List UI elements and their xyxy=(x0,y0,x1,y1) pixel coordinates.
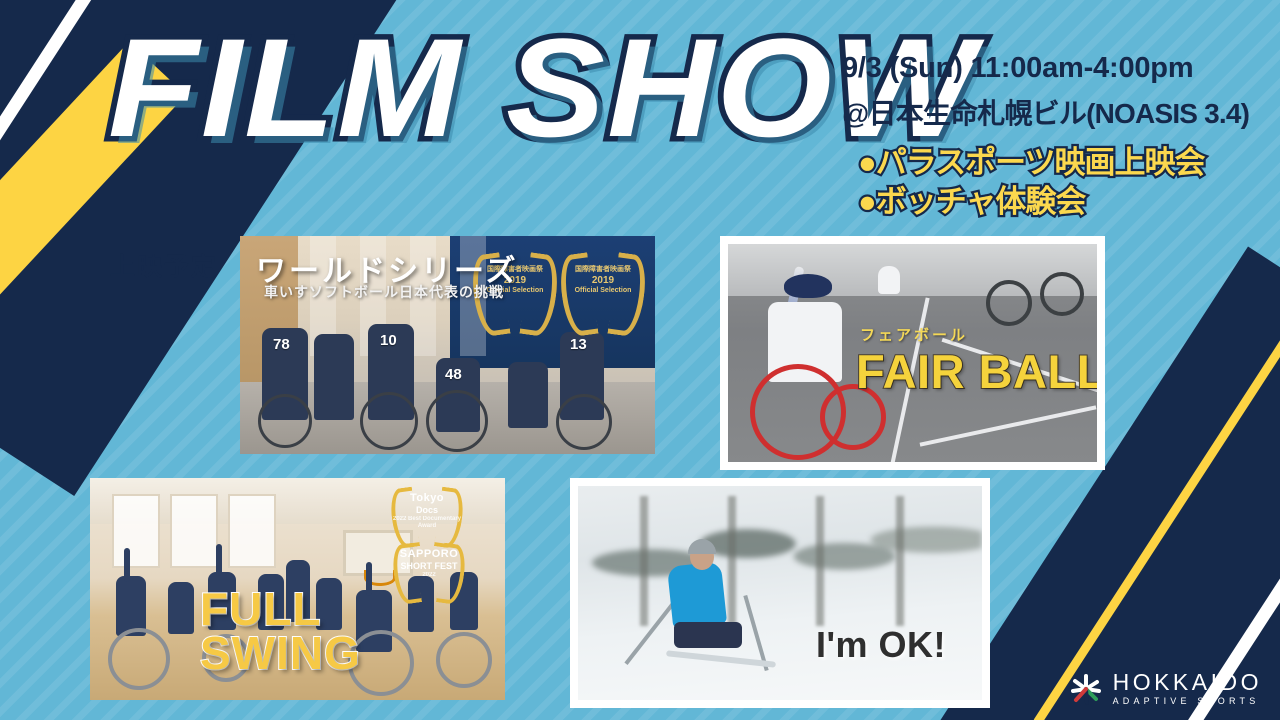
event-bullet-item: ●ボッチャ体験会 xyxy=(858,183,1242,222)
award-laurel-badge: 国際障害者映画祭 2019 Official Selection xyxy=(560,248,646,332)
brand-tagline: ADAPTIVE SPORTS xyxy=(1113,697,1262,706)
film-thumbnail-full-swing[interactable]: Tokyo Docs 2022 Best Documentary Award S… xyxy=(90,478,505,700)
event-bullet-list: ●パラスポーツ映画上映会 ●ボッチャ体験会 xyxy=(858,144,1242,222)
award-line-2: Docs xyxy=(390,505,464,516)
event-venue: @日本生命札幌ビル(NOASIS 3.4) xyxy=(842,92,1242,132)
award-line-2: SHORT FEST xyxy=(392,561,466,572)
brand-name: HOKKAIDO xyxy=(1113,671,1262,694)
award-line-1: SAPPORO xyxy=(392,548,466,561)
jersey-number: 48 xyxy=(445,366,462,383)
award-line-1: 国際障害者映画祭 xyxy=(560,266,646,275)
award-line-1: Tokyo xyxy=(390,492,464,505)
thumbnail-image-fair-ball: フェアボール FAIR BALL xyxy=(728,244,1097,462)
film-title-full-swing: FULL SWING xyxy=(200,588,361,675)
event-info-block: 9/3 (Sun) 11:00am-4:00pm @日本生命札幌ビル(NOASI… xyxy=(842,52,1242,222)
event-date-time: 9/3 (Sun) 11:00am-4:00pm xyxy=(842,52,1242,85)
film-title-fair-ball: FAIR BALL xyxy=(856,344,1097,399)
film-title-line-1: FULL xyxy=(200,588,361,632)
award-line-3: 2022 xyxy=(392,572,466,579)
brand-logo-text: HOKKAIDO ADAPTIVE SPORTS xyxy=(1113,671,1262,706)
jersey-number: 78 xyxy=(273,336,290,353)
film-kana-fair-ball: フェアボール xyxy=(860,324,968,345)
award-laurel-badge: Tokyo Docs 2022 Best Documentary Award xyxy=(390,484,464,546)
jersey-number: 10 xyxy=(380,332,397,349)
film-title-line-2: SWING xyxy=(200,632,361,676)
film-subtitle-world-series: 車いすソフトボール日本代表の挑戦 xyxy=(264,282,504,302)
award-line-3: Official Selection xyxy=(560,287,646,296)
event-bullet-item: ●パラスポーツ映画上映会 xyxy=(858,144,1242,183)
section-label-screening-lineup: 上映予定 xyxy=(110,247,218,283)
film-thumbnail-world-series[interactable]: 78 10 48 13 国際障害者映画祭 2019 Official Selec… xyxy=(240,236,655,454)
thumbnail-image-world-series: 78 10 48 13 国際障害者映画祭 2019 Official Selec… xyxy=(240,236,655,454)
thumbnail-image-im-ok: I'm OK! xyxy=(578,486,982,700)
award-line-3: 2022 Best Documentary Award xyxy=(390,516,464,530)
poster-canvas: FILM SHOW 9/3 (Sun) 11:00am-4:00pm @日本生命… xyxy=(0,0,1280,720)
top-left-white-stripe xyxy=(0,0,103,385)
film-thumbnail-im-ok[interactable]: I'm OK! xyxy=(570,478,990,708)
thumbnail-image-full-swing: Tokyo Docs 2022 Best Documentary Award S… xyxy=(90,478,505,700)
brand-logo: HOKKAIDO ADAPTIVE SPORTS xyxy=(1069,671,1262,706)
pinwheel-snowflake-icon xyxy=(1069,672,1103,706)
film-thumbnail-fair-ball[interactable]: フェアボール FAIR BALL xyxy=(720,236,1105,470)
jersey-number: 13 xyxy=(570,336,587,353)
film-title-im-ok: I'm OK! xyxy=(816,624,946,666)
award-line-2: 2019 xyxy=(560,275,646,288)
award-laurel-badge: SAPPORO SHORT FEST 2022 xyxy=(392,540,466,602)
